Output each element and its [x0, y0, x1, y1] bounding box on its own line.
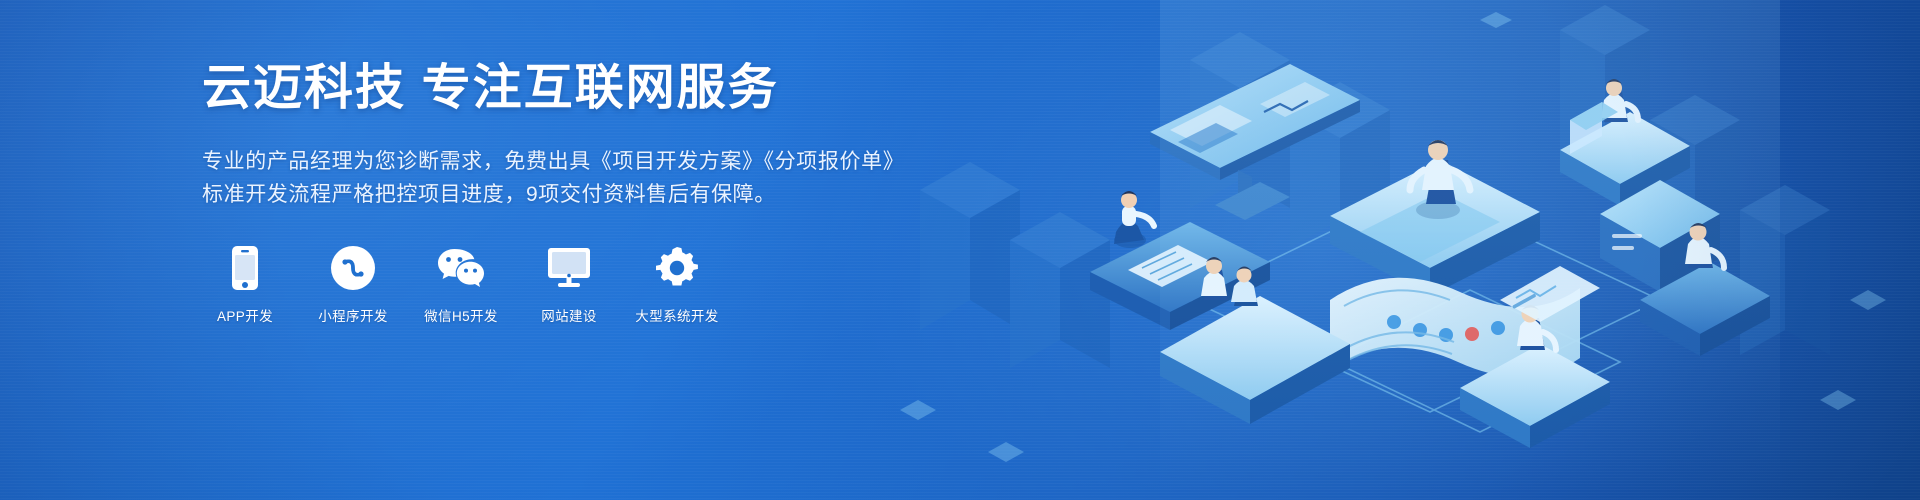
service-item-app[interactable]: APP开发 [202, 245, 288, 325]
service-item-large-system[interactable]: 大型系统开发 [634, 245, 720, 325]
subtitle-line-1: 专业的产品经理为您诊断需求，免费出具《项目开发方案》《分项报价单》 [202, 145, 962, 178]
service-label-large-system: 大型系统开发 [635, 305, 718, 325]
service-label-website: 网站建设 [541, 305, 597, 325]
monitor-icon [546, 245, 592, 291]
service-item-mini-program[interactable]: 小程序开发 [310, 245, 396, 325]
gear-icon [654, 245, 700, 291]
service-label-mini-program: 小程序开发 [318, 305, 388, 325]
service-item-wechat[interactable]: 微信H5开发 [418, 245, 504, 325]
service-list: APP开发 小程序开发 [202, 245, 962, 325]
wechat-icon [436, 245, 486, 291]
subtitle-line-2: 标准开发流程严格把控项目进度，9项交付资料售后有保障。 [202, 178, 962, 211]
isometric-tech-team-illustration [860, 0, 1920, 500]
mobile-phone-icon [230, 245, 260, 291]
service-label-app: APP开发 [217, 305, 273, 325]
mini-program-icon [330, 245, 376, 291]
hero-banner: 云迈科技 专注互联网服务 专业的产品经理为您诊断需求，免费出具《项目开发方案》《… [0, 0, 1920, 500]
service-label-wechat: 微信H5开发 [424, 305, 498, 325]
hero-content: 云迈科技 专注互联网服务 专业的产品经理为您诊断需求，免费出具《项目开发方案》《… [202, 60, 962, 325]
page-title: 云迈科技 专注互联网服务 [202, 60, 962, 118]
service-item-website[interactable]: 网站建设 [526, 245, 612, 325]
